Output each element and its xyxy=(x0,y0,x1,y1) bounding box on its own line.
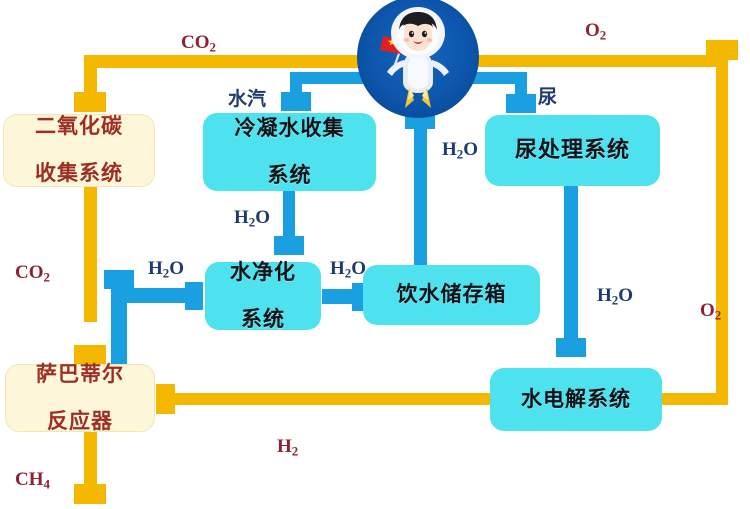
arrowhead-urine-into-processor xyxy=(506,94,536,113)
label-o2-top: O2 xyxy=(585,20,606,44)
node-co2-collection-line2: 收集系统 xyxy=(4,162,154,186)
flow-o2-top-horizontal xyxy=(459,55,728,67)
label-ch4-bottom: CH4 xyxy=(15,469,50,493)
arrowhead-h2o-into-electrolysis xyxy=(556,338,586,357)
arrowhead-co2-into-collector xyxy=(74,92,106,112)
label-h2-bottom-sub: 2 xyxy=(292,444,298,459)
node-electrolysis-label: 水电解系统 xyxy=(490,388,662,412)
node-condensate-line1: 冷凝水收集 xyxy=(203,117,376,141)
label-co2-top-text: CO xyxy=(181,32,210,53)
arrowhead-h2o-sabatier-corner xyxy=(104,270,134,289)
label-h2o-sabatier-h: H xyxy=(148,258,163,279)
label-h2o-purifier-h: H xyxy=(330,258,345,279)
arrowhead-vapor-into-condenser xyxy=(281,92,311,111)
label-ch4-bottom-sub: 4 xyxy=(44,477,50,492)
label-ch4-bottom-text: CH xyxy=(15,469,44,490)
label-co2-left-text: CO xyxy=(15,262,44,283)
node-purification-line2: 系统 xyxy=(205,308,321,332)
flow-h2o-tank-to-astronaut xyxy=(414,128,427,268)
arrowhead-h2o-into-purifier xyxy=(274,236,304,255)
astronaut-icon xyxy=(357,0,479,118)
node-sabatier-reactor[interactable]: 萨巴蒂尔 反应器 xyxy=(5,364,155,432)
flow-h2o-purifier-to-tank xyxy=(322,289,355,304)
node-condensate-collection-system[interactable]: 冷凝水收集 系统 xyxy=(203,113,376,191)
label-vapor: 水汽 xyxy=(228,84,266,111)
label-urine: 尿 xyxy=(538,82,557,109)
flow-h2o-condenser-to-purifier xyxy=(283,191,295,238)
arrowhead-h2o-into-purifier-side xyxy=(185,282,203,310)
node-urine-label: 尿处理系统 xyxy=(485,138,660,163)
flow-ch4-out xyxy=(84,432,97,484)
node-urine-processing-system[interactable]: 尿处理系统 xyxy=(485,115,660,186)
flow-urine-vertical xyxy=(515,72,527,96)
label-h2-bottom: H2 xyxy=(277,436,298,460)
label-o2-right-text: O xyxy=(700,300,715,321)
label-co2-left-sub: 2 xyxy=(44,270,50,285)
label-h2o-electrolysis-h: H xyxy=(597,285,612,306)
label-h2o-sabatier-o: O xyxy=(169,258,184,279)
label-h2o-electrolysis: H2O xyxy=(597,285,633,309)
label-o2-right-sub: 2 xyxy=(715,308,721,323)
node-water-purification-system[interactable]: 水净化 系统 xyxy=(205,262,321,330)
label-h2o-tank-h: H xyxy=(442,139,457,160)
label-h2o-condenser-o: O xyxy=(255,207,270,228)
flow-h2o-urine-to-electrolysis xyxy=(564,186,578,340)
label-o2-right: O2 xyxy=(700,300,721,324)
arrowhead-o2-corner xyxy=(706,40,738,60)
flow-co2-collector-to-sabatier xyxy=(84,187,97,322)
node-drinking-water-tank[interactable]: 饮水储存箱 xyxy=(363,265,540,325)
label-h2o-condenser: H2O xyxy=(234,207,270,231)
flow-h2o-sabatier-horizontal xyxy=(111,288,187,303)
arrowhead-h2-into-sabatier xyxy=(156,384,175,414)
node-purification-line1: 水净化 xyxy=(205,261,321,285)
label-o2-top-text: O xyxy=(585,20,600,41)
node-water-electrolysis-system[interactable]: 水电解系统 xyxy=(490,368,662,431)
diagram-canvas: 二氧化碳 收集系统 萨巴蒂尔 反应器 冷凝水收集 系统 水净化 系统 饮水储存箱… xyxy=(0,0,750,509)
label-h2-bottom-text: H xyxy=(277,436,292,457)
node-co2-collection-line1: 二氧化碳 xyxy=(4,115,154,139)
node-condensate-line2: 系统 xyxy=(203,164,376,188)
label-o2-top-sub: 2 xyxy=(600,28,606,43)
label-h2o-condenser-h: H xyxy=(234,207,249,228)
label-h2o-sabatier: H2O xyxy=(148,258,184,282)
flow-vapor-vertical xyxy=(290,72,302,94)
label-h2o-purifier: H2O xyxy=(330,258,366,282)
node-sabatier-line1: 萨巴蒂尔 xyxy=(6,363,154,387)
label-co2-left: CO2 xyxy=(15,262,50,286)
node-sabatier-line2: 反应器 xyxy=(6,410,154,434)
label-h2o-electrolysis-o: O xyxy=(618,285,633,306)
node-tank-label: 饮水储存箱 xyxy=(363,283,540,307)
label-co2-top: CO2 xyxy=(181,32,216,56)
flow-co2-astronaut-vertical xyxy=(84,55,97,97)
label-h2o-tank-o: O xyxy=(463,139,478,160)
node-co2-collection-system[interactable]: 二氧化碳 收集系统 xyxy=(3,114,155,187)
label-co2-top-sub: 2 xyxy=(210,40,216,55)
label-h2o-purifier-o: O xyxy=(351,258,366,279)
label-h2o-tank: H2O xyxy=(442,139,478,163)
arrowhead-ch4-out xyxy=(74,484,106,504)
flow-o2-vertical-right xyxy=(716,55,728,401)
